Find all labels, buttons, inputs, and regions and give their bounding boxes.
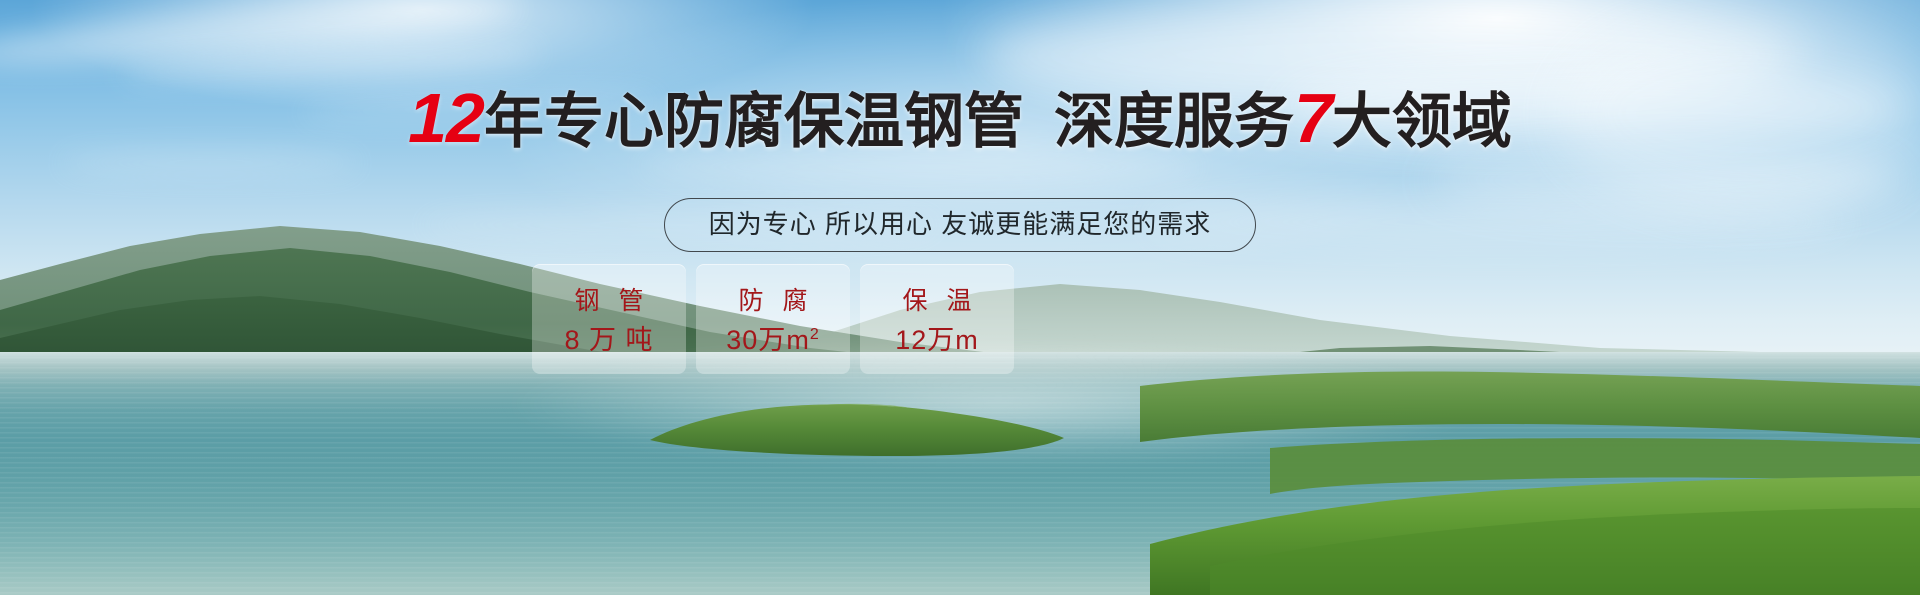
headline-years-unit: 年 [484,88,544,155]
stat-card-title: 钢 管 [569,286,650,316]
subtitle-pill: 因为专心 所以用心 友诚更能满足您的需求 [664,198,1256,252]
stat-value-text: 30万m [726,325,810,355]
stat-card-steel-pipe[interactable]: 钢 管 8 万 吨 [532,264,686,374]
stat-card-anticorrosion[interactable]: 防 腐 30万m2 [696,264,850,374]
headline-years-number: 12 [408,79,484,157]
foreground-grass [1150,470,1920,595]
headline-fields-number: 7 [1294,79,1332,157]
stat-cards: 钢 管 8 万 吨 防 腐 30万m2 保 温 12万m [532,264,1014,374]
stat-card-value: 8 万 吨 [564,324,653,356]
cloud-wisp-icon [0,0,521,78]
stat-card-insulation[interactable]: 保 温 12万m [860,264,1014,374]
headline-second-text: 深度服务 [1054,88,1294,155]
stat-value-text: 12万m [895,325,979,355]
stat-card-value: 12万m [895,324,979,356]
hero-banner: 12年专心防腐保温钢管深度服务7大领域 因为专心 所以用心 友诚更能满足您的需求… [0,0,1920,595]
subtitle-container: 因为专心 所以用心 友诚更能满足您的需求 [0,198,1920,252]
stat-value-superscript: 2 [810,326,820,343]
grass-islet [640,388,1070,458]
page-title: 12年专心防腐保温钢管深度服务7大领域 [0,84,1920,156]
stat-card-title: 防 腐 [733,286,814,316]
stat-card-title: 保 温 [897,286,978,316]
stat-card-value: 30万m2 [726,324,819,356]
headline-main-text: 专心防腐保温钢管 [544,88,1024,155]
headline-suffix-text: 大领域 [1332,88,1512,155]
stat-value-text: 8 万 吨 [564,325,653,355]
